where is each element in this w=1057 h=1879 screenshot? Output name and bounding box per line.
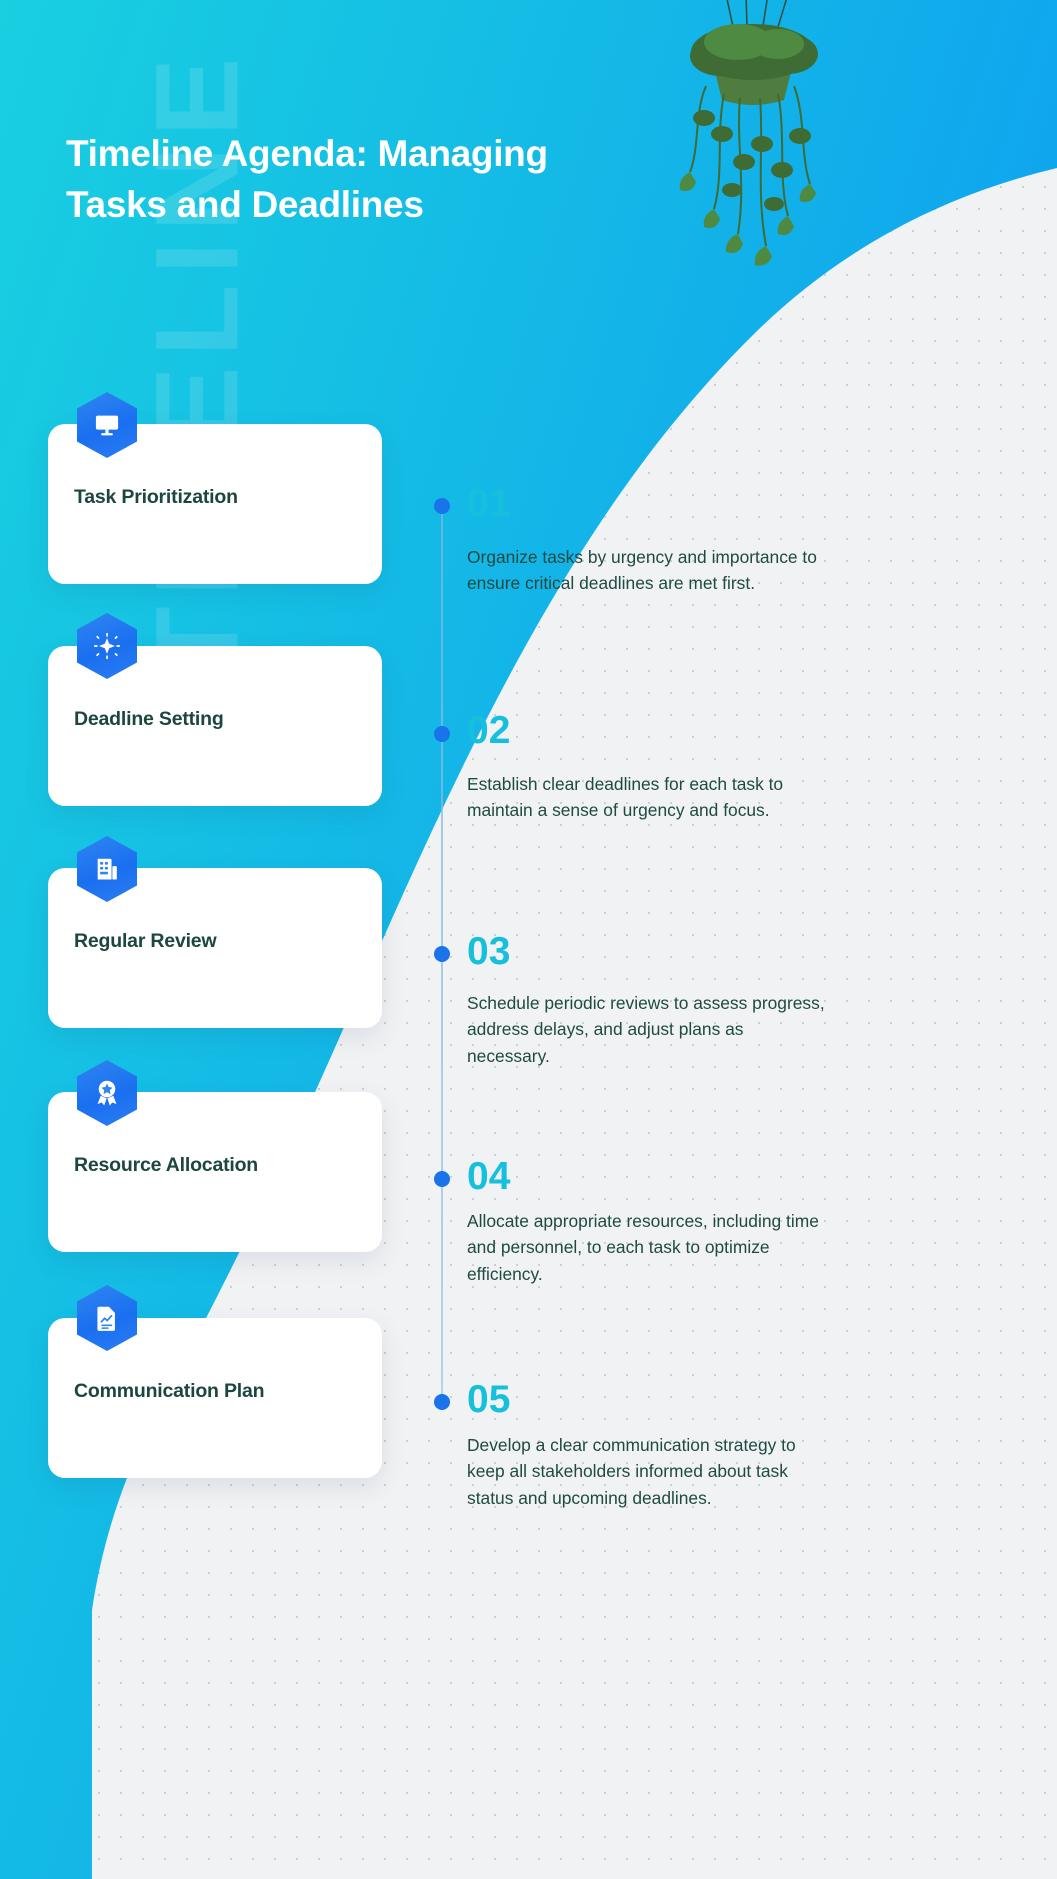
timeline-number: 01: [467, 484, 510, 523]
card-title: Task Prioritization: [74, 486, 238, 509]
card-title: Regular Review: [74, 930, 216, 953]
timeline-dot[interactable]: [434, 1171, 450, 1187]
page-title: Timeline Agenda: Managing Tasks and Dead…: [66, 128, 626, 230]
timeline-number: 02: [467, 711, 510, 750]
card-title: Deadline Setting: [74, 708, 224, 731]
timeline-dot[interactable]: [434, 1394, 450, 1410]
hanging-plant-icon: [628, 0, 878, 314]
timeline-number: 03: [467, 932, 510, 971]
timeline-description: Establish clear deadlines for each task …: [467, 771, 827, 824]
timeline-number: 05: [467, 1380, 510, 1419]
timeline-description: Organize tasks by urgency and importance…: [467, 544, 827, 597]
timeline-dot[interactable]: [434, 946, 450, 962]
card-title: Resource Allocation: [74, 1154, 258, 1177]
timeline-dot[interactable]: [434, 498, 450, 514]
infographic-canvas: TIMELINE Timeline Agenda: Managing Tasks…: [0, 0, 1057, 1879]
timeline-dot[interactable]: [434, 726, 450, 742]
card-title: Communication Plan: [74, 1380, 264, 1403]
timeline-description: Schedule periodic reviews to assess prog…: [467, 990, 827, 1069]
timeline-number: 04: [467, 1157, 510, 1196]
timeline-description: Develop a clear communication strategy t…: [467, 1432, 827, 1511]
timeline-description: Allocate appropriate resources, includin…: [467, 1208, 827, 1287]
